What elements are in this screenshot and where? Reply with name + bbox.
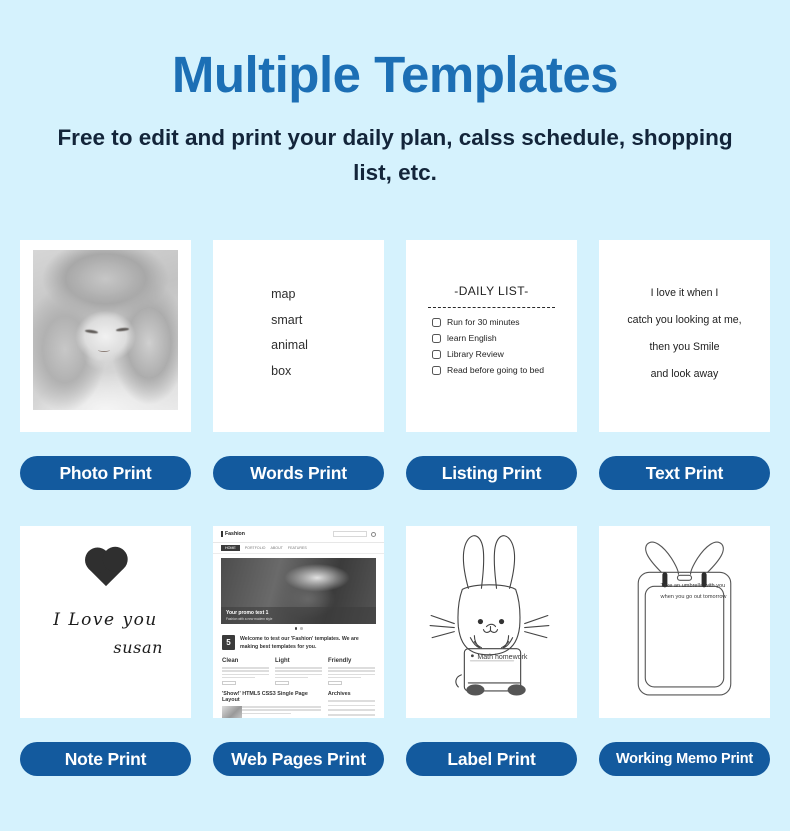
dashed-divider <box>428 307 555 308</box>
listing-print-button[interactable]: Listing Print <box>406 456 577 490</box>
note-line-2: susan <box>113 638 163 657</box>
rabbit-ear-left <box>463 536 483 589</box>
daily-list-title: -DAILY LIST- <box>406 284 577 298</box>
rabbit-outline-illustration: Math homework <box>406 526 577 718</box>
feature-column: Light <box>275 658 322 685</box>
list-item[interactable]: Run for 30 minutes <box>432 317 577 327</box>
card-working-memo-print[interactable]: Take an umbrella with you when you go ou… <box>599 526 770 718</box>
carousel-dot[interactable] <box>295 627 298 630</box>
word-item: animal <box>271 333 308 359</box>
checkbox-icon[interactable] <box>432 318 441 327</box>
heart-icon <box>88 551 123 586</box>
rabbit-head <box>458 585 520 655</box>
word-item: box <box>271 359 308 385</box>
nav-item-home[interactable]: HOME <box>221 545 240 551</box>
feature-column: Clean <box>222 658 269 685</box>
text-line <box>275 667 322 668</box>
card-web-pages-print[interactable]: Fashion HOME PORTFOLIO ABOUT FEATURES Yo… <box>213 526 384 718</box>
page-header: Multiple Templates Free to edit and prin… <box>0 0 790 191</box>
rabbit-paw-right <box>502 636 513 648</box>
card-listing-print[interactable]: -DAILY LIST- Run for 30 minutes learn En… <box>406 240 577 432</box>
nav-item-portfolio[interactable]: PORTFOLIO <box>245 546 266 550</box>
note-line-1: I Love you <box>20 610 191 630</box>
girl-photo-image <box>33 250 178 410</box>
text-line <box>222 670 269 671</box>
template-grid: Photo Print map smart animal box Words P… <box>0 240 790 812</box>
template-cell-web-pages-print: Fashion HOME PORTFOLIO ABOUT FEATURES Yo… <box>213 526 384 812</box>
feature-title: Friendly <box>328 658 375 664</box>
note-print-button[interactable]: Note Print <box>20 742 191 776</box>
rabbit-nose-mouth <box>483 624 497 632</box>
photo-print-button[interactable]: Photo Print <box>20 456 191 490</box>
article-sidebar: Archives <box>328 691 375 718</box>
quote-line: then you Smile <box>613 334 756 361</box>
memo-ear-left <box>646 542 679 574</box>
webpage-mockup: Fashion HOME PORTFOLIO ABOUT FEATURES Yo… <box>213 526 384 718</box>
page-subtitle: Free to edit and print your daily plan, … <box>45 121 745 191</box>
rabbit-paw-left <box>470 636 481 648</box>
card-text-print[interactable]: I love it when I catch you looking at me… <box>599 240 770 432</box>
memo-ear-right <box>691 542 724 574</box>
text-line <box>275 674 322 675</box>
rabbit-whiskers-right <box>525 616 549 638</box>
quote-line: I love it when I <box>613 280 756 307</box>
text-line <box>328 674 375 675</box>
words-print-button[interactable]: Words Print <box>213 456 384 490</box>
hero-image: Your promo text 1 Fashion with a new mod… <box>221 558 376 624</box>
working-memo-print-button[interactable]: Working Memo Print <box>599 742 770 776</box>
text-line <box>275 677 308 678</box>
text-line <box>328 677 361 678</box>
site-search[interactable] <box>333 531 376 537</box>
hero-subtitle: Fashion with a new modern style <box>226 617 371 621</box>
archive-row[interactable] <box>328 705 375 707</box>
text-line <box>222 677 255 678</box>
checklist: Run for 30 minutes learn English Library… <box>432 317 577 375</box>
text-line <box>222 667 269 668</box>
words-list: map smart animal box <box>271 282 308 385</box>
hero-caption: Your promo text 1 Fashion with a new mod… <box>221 607 376 624</box>
list-item-label: learn English <box>447 333 497 343</box>
quote-block: I love it when I catch you looking at me… <box>599 240 770 388</box>
archive-row[interactable] <box>328 714 375 716</box>
template-cell-words-print: map smart animal box Words Print <box>213 240 384 526</box>
rabbit-arms <box>456 675 520 687</box>
checkbox-icon[interactable] <box>432 334 441 343</box>
hero-title: Your promo text 1 <box>226 610 371 616</box>
text-line <box>275 670 322 671</box>
quote-line: and look away <box>613 361 756 388</box>
nav-item-features[interactable]: FEATURES <box>288 546 307 550</box>
archive-row[interactable] <box>328 709 375 711</box>
list-item-label: Library Review <box>447 349 504 359</box>
list-item-label: Run for 30 minutes <box>447 317 520 327</box>
html5-badge-icon: 5 <box>222 635 235 650</box>
card-note-print[interactable]: I Love you susan <box>20 526 191 718</box>
template-cell-working-memo-print: Take an umbrella with you when you go ou… <box>599 526 770 812</box>
card-label-print[interactable]: Math homework <box>406 526 577 718</box>
web-pages-print-button[interactable]: Web Pages Print <box>213 742 384 776</box>
label-note-text: Math homework <box>477 654 528 661</box>
template-cell-listing-print: -DAILY LIST- Run for 30 minutes learn En… <box>406 240 577 526</box>
card-words-print[interactable]: map smart animal box <box>213 240 384 432</box>
label-bullet <box>471 654 474 657</box>
feature-title: Light <box>275 658 322 664</box>
sidebar-title: Archives <box>328 691 375 697</box>
quote-line: catch you looking at me, <box>613 307 756 334</box>
text-line <box>328 667 375 668</box>
article-section: 'Show!' HTML5 CSS3 Single Page Layout Ar… <box>213 685 384 718</box>
template-cell-photo-print: Photo Print <box>20 240 191 526</box>
article-thumbnail <box>222 706 242 718</box>
carousel-dot[interactable] <box>300 627 303 630</box>
list-item-label: Read before going to bed <box>447 365 544 375</box>
welcome-section: 5 Welcome to test our 'Fashion' template… <box>213 630 384 653</box>
article-main: 'Show!' HTML5 CSS3 Single Page Layout <box>222 691 321 718</box>
template-cell-text-print: I love it when I catch you looking at me… <box>599 240 770 526</box>
rabbit-ears-memo-illustration <box>599 526 770 718</box>
text-line <box>222 674 269 675</box>
list-item[interactable]: Library Review <box>432 349 577 359</box>
rabbit-ear-right <box>494 536 514 589</box>
text-line <box>328 670 375 671</box>
label-print-button[interactable]: Label Print <box>406 742 577 776</box>
rabbit-eye-right <box>499 619 504 624</box>
word-item: map <box>271 282 308 308</box>
search-input[interactable] <box>333 531 367 537</box>
rabbit-whiskers-left <box>430 616 454 638</box>
webpage-header: Fashion <box>213 526 384 543</box>
word-item: smart <box>271 308 308 334</box>
template-cell-label-print: Math homework Label Print <box>406 526 577 812</box>
checkbox-icon[interactable] <box>432 350 441 359</box>
template-cell-note-print: I Love you susan Note Print <box>20 526 191 812</box>
page-title: Multiple Templates <box>0 46 790 103</box>
rabbit-foot-left <box>466 684 484 695</box>
welcome-text: Welcome to test our 'Fashion' templates.… <box>240 635 375 653</box>
site-nav[interactable]: HOME PORTFOLIO ABOUT FEATURES <box>213 543 384 554</box>
read-more-button[interactable] <box>222 681 236 685</box>
feature-title: Clean <box>222 658 269 664</box>
checkbox-icon[interactable] <box>432 366 441 375</box>
read-more-button[interactable] <box>328 681 342 685</box>
article-title: 'Show!' HTML5 CSS3 Single Page Layout <box>222 691 321 703</box>
archive-row[interactable] <box>328 700 375 702</box>
site-logo: Fashion <box>221 531 245 537</box>
card-photo-print[interactable] <box>20 240 191 432</box>
nav-item-about[interactable]: ABOUT <box>270 546 282 550</box>
rabbit-eye-left <box>478 619 483 624</box>
memo-note-text: Take an umbrella with you when you go ou… <box>661 581 731 603</box>
text-print-button[interactable]: Text Print <box>599 456 770 490</box>
read-more-button[interactable] <box>275 681 289 685</box>
search-icon[interactable] <box>371 532 376 537</box>
feature-column: Friendly <box>328 658 375 685</box>
feature-columns: Clean Light <box>213 652 384 685</box>
rabbit-foot-right <box>508 684 526 695</box>
list-item[interactable]: Read before going to bed <box>432 365 577 375</box>
photo-frame <box>33 250 178 410</box>
list-item[interactable]: learn English <box>432 333 577 343</box>
memo-mouth <box>677 575 691 580</box>
